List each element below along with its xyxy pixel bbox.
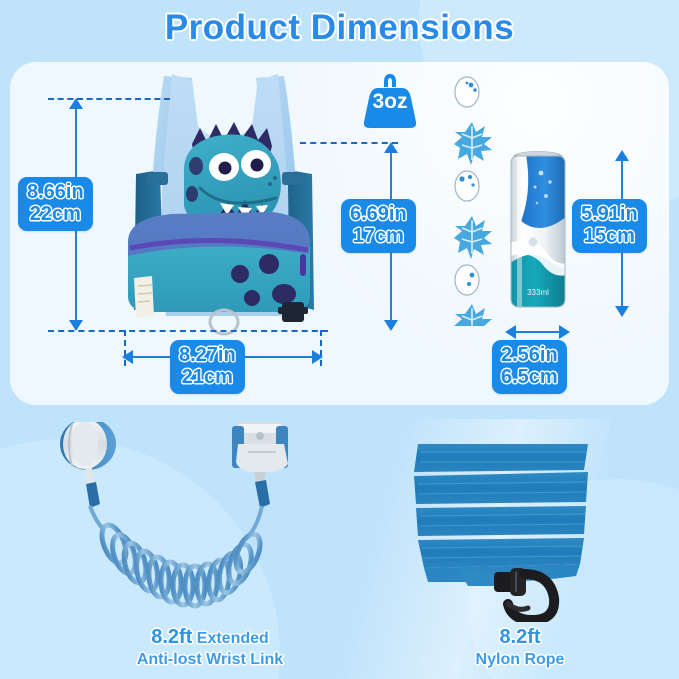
divider-icon-column <box>448 76 496 326</box>
wrist-link-measure-suffix: Extended <box>197 630 269 647</box>
badge-can-height-cm: 15cm <box>581 226 638 248</box>
depth-arrow-head-down <box>384 320 398 331</box>
can-height-arrow-head-up <box>615 150 629 161</box>
width-arrow-head-left <box>122 350 133 364</box>
badge-backpack-width-cm: 21cm <box>179 367 236 389</box>
can-width-arrow-line <box>515 331 561 333</box>
badge-can-width-cm: 6.5cm <box>501 367 558 389</box>
backpack-illustration <box>112 66 338 348</box>
badge-can-height-in: 5.91in <box>581 204 638 226</box>
can-volume-label: 333ml <box>527 288 549 297</box>
dino-egg-icon <box>455 265 479 295</box>
swivel-hook-icon <box>494 568 554 620</box>
height-arrow-head-up <box>69 98 83 109</box>
can-width-arrow-head-left <box>505 325 516 339</box>
leaf-icon <box>454 304 492 326</box>
depth-arrow-head-up <box>384 142 398 153</box>
infographic-canvas: Product Dimensions <box>0 0 679 679</box>
reference-can-illustration: 333ml <box>503 149 573 312</box>
nylon-rope-measure: 8.2ft <box>499 626 540 648</box>
wrist-link-measure: 8.2ft <box>151 626 192 648</box>
nylon-rope-illustration <box>398 422 638 622</box>
dino-egg-icon <box>455 171 479 201</box>
badge-backpack-height-cm: 22cm <box>27 204 84 226</box>
width-arrow-head-right <box>312 350 323 364</box>
page-title: Product Dimensions <box>0 8 679 48</box>
wrist-link-description: Anti-lost Wrist Link <box>40 651 380 669</box>
badge-backpack-width: 8.27in 21cm <box>170 340 245 394</box>
badge-backpack-height: 8.66in 22cm <box>18 177 93 231</box>
wrist-link-illustration <box>52 422 332 622</box>
can-height-arrow-head-down <box>615 306 629 317</box>
badge-backpack-depth-in: 6.69in <box>350 204 407 226</box>
badge-backpack-depth: 6.69in 17cm <box>341 199 416 253</box>
weight-kettlebell-icon <box>359 70 421 132</box>
leaf-icon <box>454 122 492 165</box>
dino-egg-icon <box>455 77 479 107</box>
caption-wrist-link: 8.2ft Extended Anti-lost Wrist Link <box>40 626 380 669</box>
badge-can-height: 5.91in 15cm <box>572 199 647 253</box>
caption-nylon-rope: 8.2ft Nylon Rope <box>380 626 660 669</box>
height-arrow-head-down <box>69 320 83 331</box>
can-width-arrow-head-right <box>559 325 570 339</box>
badge-can-width-in: 2.56in <box>501 345 558 367</box>
guide-dash-top <box>48 98 170 100</box>
badge-can-width: 2.56in 6.5cm <box>492 340 567 394</box>
nylon-rope-description: Nylon Rope <box>380 651 660 669</box>
weight-badge: 3oz <box>359 70 421 132</box>
guide-dash-bottom <box>48 330 328 332</box>
badge-backpack-height-in: 8.66in <box>27 182 84 204</box>
badge-backpack-depth-cm: 17cm <box>350 226 407 248</box>
badge-backpack-width-in: 8.27in <box>179 345 236 367</box>
leaf-icon <box>454 216 492 259</box>
